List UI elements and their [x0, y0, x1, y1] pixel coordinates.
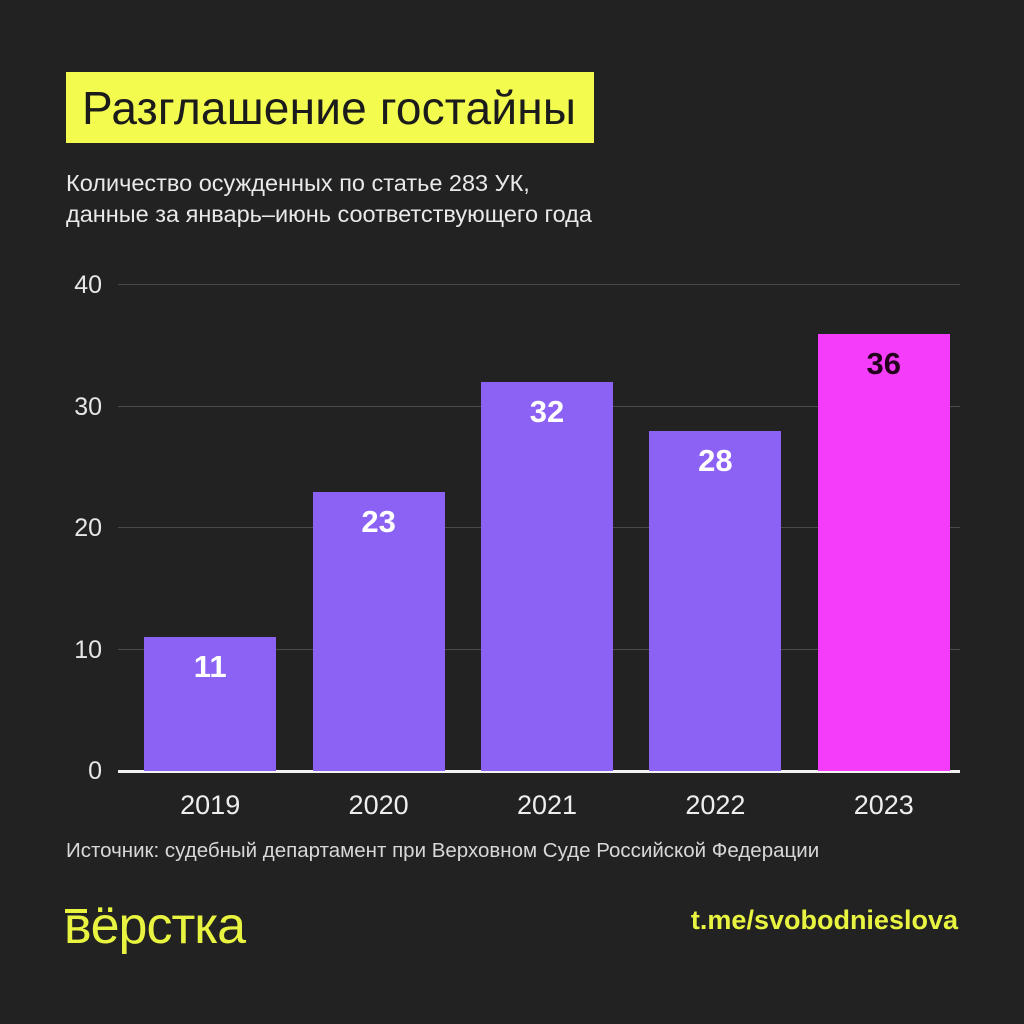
x-tick-label-2023: 2023 — [818, 792, 950, 819]
bar-2021[interactable]: 32 — [481, 382, 613, 771]
logo-wordmark: вёрстка — [64, 898, 245, 954]
infographic-canvas: Разглашение гостайны Количество осужденн… — [0, 0, 1024, 1024]
bar-2020[interactable]: 23 — [313, 492, 445, 771]
x-tick-label-2022: 2022 — [649, 792, 781, 819]
verstka-logo[interactable]: вёрстка — [64, 898, 245, 954]
bar-chart: 010203040 1123322836 2019202020212022202… — [0, 0, 1024, 1024]
x-tick-label-2021: 2021 — [481, 792, 613, 819]
bar-value-label: 36 — [818, 348, 950, 379]
bar-value-label: 23 — [313, 506, 445, 537]
x-tick-label-2020: 2020 — [313, 792, 445, 819]
bar-value-label: 28 — [649, 445, 781, 476]
logo-text: вёрстка — [64, 897, 245, 955]
bar-slot: 32 — [481, 285, 613, 771]
y-tick-label-0: 0 — [40, 759, 102, 784]
y-tick-label-30: 30 — [40, 395, 102, 420]
y-tick-label-20: 20 — [40, 516, 102, 541]
bar-slot: 36 — [818, 285, 950, 771]
bar-slot: 11 — [144, 285, 276, 771]
bar-slot: 23 — [313, 285, 445, 771]
bar-2022[interactable]: 28 — [649, 431, 781, 771]
bar-slot: 28 — [649, 285, 781, 771]
y-tick-label-40: 40 — [40, 273, 102, 298]
x-tick-label-2019: 2019 — [144, 792, 276, 819]
telegram-handle[interactable]: t.me/svobodnieslova — [691, 905, 958, 935]
bar-2023[interactable]: 36 — [818, 334, 950, 771]
bar-value-label: 11 — [144, 651, 276, 682]
y-tick-label-10: 10 — [40, 638, 102, 663]
source-note: Источник: судебный департамент при Верхо… — [66, 838, 819, 864]
bar-2019[interactable]: 11 — [144, 637, 276, 771]
bar-value-label: 32 — [481, 396, 613, 427]
bar-series: 1123322836 — [118, 285, 960, 771]
logo-overbar-icon — [65, 909, 87, 913]
